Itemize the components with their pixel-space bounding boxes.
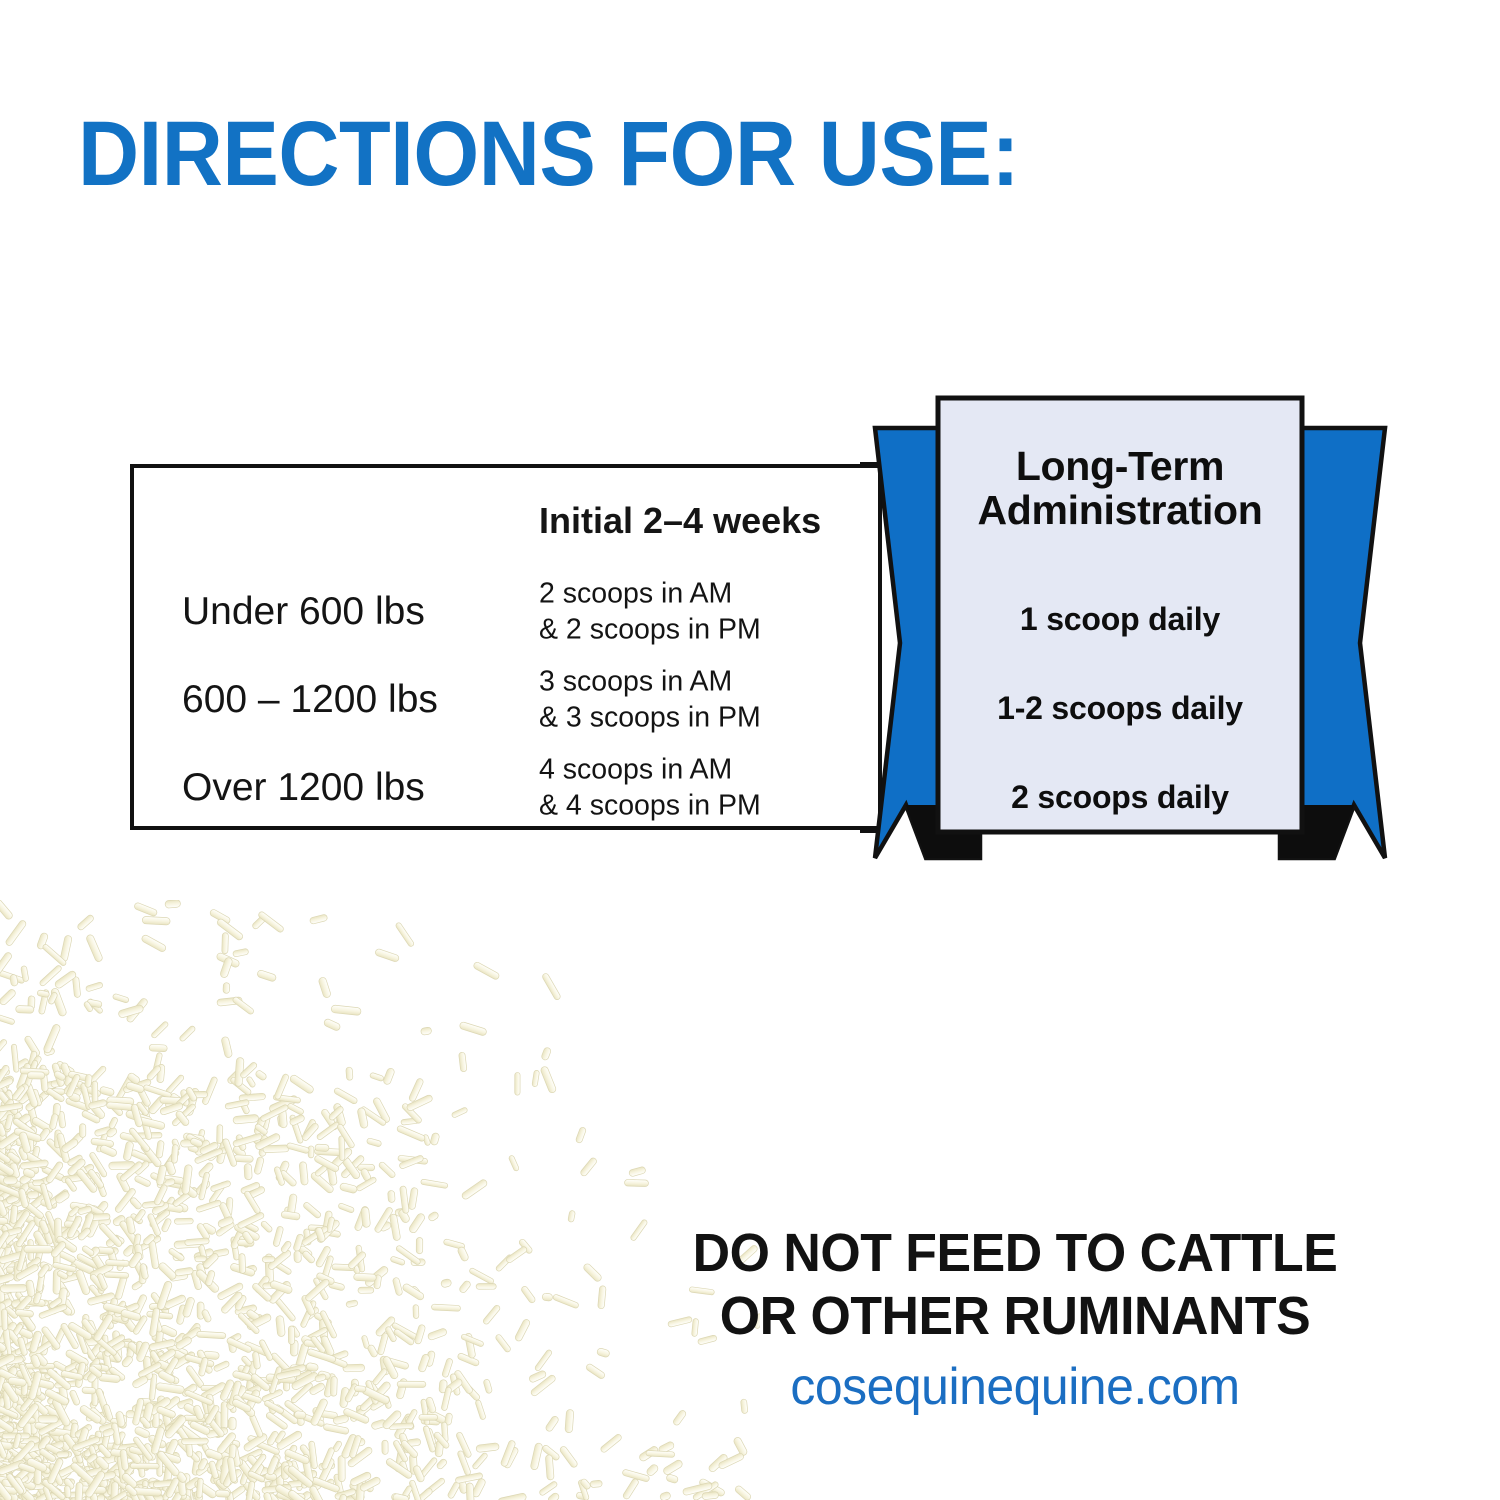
pellet — [662, 1459, 683, 1476]
pellet — [319, 1310, 337, 1339]
pellet — [338, 1203, 355, 1214]
pellet — [83, 1443, 100, 1458]
pellet — [99, 1086, 115, 1097]
pellet — [4, 1455, 24, 1471]
pellet — [64, 1221, 77, 1228]
pellet — [0, 1014, 15, 1025]
pellet — [500, 1440, 516, 1468]
pellet — [217, 1125, 223, 1144]
pellet — [391, 1492, 411, 1500]
pellet — [33, 1292, 43, 1305]
pellet — [0, 951, 13, 977]
pellet — [156, 1405, 177, 1419]
pellet — [111, 1480, 120, 1493]
pellet — [0, 1261, 15, 1267]
pellet — [273, 1261, 292, 1276]
pellet — [293, 1233, 305, 1251]
pellet — [0, 1419, 10, 1435]
pellet — [388, 1190, 396, 1202]
pellet — [106, 1102, 133, 1111]
pellet — [14, 1294, 33, 1314]
pellet — [124, 1446, 143, 1466]
pellet — [18, 1188, 29, 1208]
pellet — [89, 1273, 107, 1292]
pellet — [0, 1463, 14, 1476]
pellet — [194, 1148, 223, 1165]
pellet — [150, 1172, 167, 1185]
pellet — [147, 1485, 159, 1499]
pellet — [195, 1268, 220, 1294]
pellet — [0, 1483, 10, 1495]
pellet — [0, 1381, 7, 1393]
pellet — [205, 1270, 216, 1287]
pellet — [197, 1331, 226, 1339]
pellet — [37, 1434, 52, 1451]
pellet — [334, 1488, 356, 1500]
pellet — [300, 1334, 316, 1347]
pellet — [65, 1097, 90, 1112]
pellet — [173, 1253, 184, 1261]
pellet — [253, 1439, 280, 1455]
pellet — [0, 1227, 22, 1238]
pellet — [41, 1166, 65, 1182]
pellet — [226, 1069, 242, 1085]
pellet — [0, 1235, 10, 1261]
pellet — [235, 1448, 263, 1465]
pellet — [169, 1271, 188, 1281]
pellet — [77, 1227, 92, 1242]
pellet — [61, 1297, 76, 1316]
pellet — [0, 1078, 10, 1090]
pellet — [54, 1130, 61, 1148]
pellet — [185, 1238, 210, 1246]
pellet — [165, 900, 181, 908]
pellet — [253, 1116, 266, 1136]
pellet — [164, 1413, 186, 1434]
pellet — [86, 1453, 98, 1465]
pellet — [113, 1445, 135, 1464]
pellet — [0, 1397, 6, 1418]
pellet — [33, 1372, 51, 1382]
pellet — [217, 1450, 244, 1468]
pellet — [203, 1351, 219, 1360]
pellet — [265, 1254, 274, 1284]
pellet — [503, 1446, 519, 1469]
pellet — [234, 1155, 254, 1163]
pellet — [85, 1213, 110, 1220]
pellet — [534, 1349, 553, 1372]
pellet — [103, 1302, 129, 1315]
pellet — [383, 1397, 392, 1409]
initial-dose-am: 4 scoops in AM — [539, 752, 761, 788]
pellet — [160, 1202, 184, 1213]
pellet — [107, 1097, 134, 1106]
pellet — [65, 1349, 90, 1368]
pellet — [0, 1302, 14, 1327]
pellet — [260, 1220, 273, 1233]
pellet — [0, 1230, 10, 1257]
pellet — [197, 1302, 204, 1319]
pellet — [4, 1227, 15, 1242]
pellet — [216, 1490, 230, 1497]
pellet — [81, 1245, 95, 1257]
pellet — [36, 1434, 54, 1458]
pellet — [354, 1438, 365, 1447]
pellet — [36, 1230, 54, 1242]
pellet — [2, 1383, 13, 1391]
pellet — [111, 1422, 121, 1445]
pellet — [141, 1480, 149, 1500]
pellet — [91, 1333, 117, 1356]
pellet — [102, 1428, 115, 1438]
pellet — [26, 1455, 45, 1471]
pellet — [310, 1481, 323, 1492]
pellet — [46, 1222, 61, 1250]
pellet — [70, 1442, 83, 1464]
pellet — [514, 1318, 531, 1342]
pellet — [565, 1409, 574, 1433]
pellet — [315, 1226, 326, 1242]
pellet — [143, 1442, 157, 1461]
pellet — [217, 1216, 234, 1229]
pellet — [74, 1163, 95, 1179]
pellet — [459, 1052, 467, 1072]
pellet — [270, 1352, 293, 1376]
pellet — [338, 1494, 348, 1500]
pellet — [518, 1238, 533, 1254]
pellet — [156, 1280, 173, 1310]
pellet — [88, 1445, 101, 1469]
pellet — [98, 1475, 108, 1489]
pellet — [498, 1493, 527, 1500]
website-url-link[interactable]: cosequinequine.com — [617, 1357, 1414, 1417]
pellet — [12, 1188, 20, 1203]
pellet — [66, 1157, 86, 1177]
pellet — [17, 1309, 37, 1333]
pellet — [164, 1478, 188, 1500]
pellet — [645, 1463, 659, 1477]
pellet — [313, 1312, 332, 1327]
pellet — [3, 1176, 17, 1184]
pellet — [473, 961, 501, 980]
pellet — [32, 1407, 40, 1423]
pellet — [125, 1216, 136, 1234]
pellet — [58, 1479, 75, 1486]
pellet — [264, 1472, 277, 1481]
pellet — [38, 1303, 67, 1319]
pellet — [142, 916, 170, 925]
pellet — [32, 1230, 49, 1251]
pellet — [246, 1490, 260, 1498]
pellet — [99, 1422, 116, 1433]
pellet — [391, 1322, 419, 1341]
pellet — [347, 1250, 367, 1269]
pellet — [67, 1321, 93, 1341]
pellet — [5, 1090, 15, 1120]
pellet — [156, 1382, 185, 1394]
pellet — [274, 1073, 290, 1100]
pellet — [341, 1433, 358, 1459]
pellet — [16, 1005, 34, 1013]
pellet — [0, 1261, 15, 1274]
pellet — [0, 1248, 8, 1276]
pellet — [40, 1334, 50, 1355]
pellet — [209, 908, 231, 925]
pellet — [66, 1215, 83, 1239]
pellet — [43, 1047, 55, 1056]
pellet — [0, 1284, 27, 1292]
pellet — [457, 1246, 470, 1262]
pellet — [41, 1488, 63, 1500]
pellet — [431, 1304, 460, 1311]
pellet — [96, 1351, 122, 1363]
pellet — [84, 1466, 104, 1478]
pellet — [280, 1240, 292, 1254]
pellet — [64, 1357, 88, 1373]
pellet — [263, 1145, 289, 1153]
pellet — [130, 1149, 154, 1164]
pellet — [5, 1366, 19, 1384]
pellet — [0, 1185, 13, 1204]
pellet — [177, 1493, 191, 1500]
pellet — [149, 1350, 168, 1375]
pellet — [622, 1478, 640, 1500]
pellet — [6, 1328, 23, 1347]
pellet — [69, 1461, 95, 1486]
pellet — [314, 1164, 328, 1177]
pellet — [275, 1160, 290, 1182]
pellet — [244, 1222, 259, 1233]
pellet — [322, 1255, 334, 1278]
pellet — [3, 1390, 12, 1410]
pellet — [158, 1452, 179, 1463]
pellet — [18, 1462, 37, 1474]
pellet — [436, 1458, 448, 1470]
pellet — [253, 1467, 269, 1477]
pellet — [1, 1225, 14, 1247]
pellet — [461, 1381, 481, 1401]
pellet — [658, 1441, 675, 1455]
pellet — [409, 1480, 424, 1500]
pellet — [15, 1113, 32, 1128]
pellet — [327, 1162, 338, 1186]
pellet — [45, 1211, 60, 1237]
pellet — [207, 1149, 221, 1162]
pellet — [100, 1414, 113, 1424]
pellet — [27, 1453, 45, 1479]
pellet — [109, 1495, 122, 1500]
pellet — [283, 1206, 297, 1220]
pellet — [38, 1465, 52, 1472]
pellet — [34, 1222, 45, 1245]
pellet — [50, 1240, 67, 1258]
pellet — [0, 1438, 7, 1456]
pellet — [8, 1357, 34, 1373]
pellet — [244, 1389, 261, 1412]
pellet — [279, 1364, 307, 1377]
pellet — [108, 1116, 118, 1129]
pellet — [150, 1426, 165, 1455]
pellet — [89, 1262, 114, 1279]
pellet — [3, 1483, 16, 1500]
pellet — [458, 1280, 471, 1294]
pellet — [195, 1462, 212, 1477]
pellet — [22, 1300, 49, 1306]
pellet — [425, 1396, 437, 1413]
ribbon-shape-graphic — [860, 385, 1400, 875]
pellet — [414, 1324, 426, 1345]
pellet — [0, 1075, 15, 1086]
pellet — [54, 1380, 79, 1388]
pellet — [249, 1414, 264, 1438]
pellet — [264, 1478, 274, 1500]
pellet — [0, 1139, 17, 1150]
pellet — [417, 1353, 430, 1372]
pellet — [254, 1069, 267, 1081]
pellet — [152, 1438, 166, 1448]
pellet — [313, 1277, 329, 1301]
pellet — [0, 1196, 4, 1223]
pellet — [234, 1304, 257, 1315]
pellet — [0, 1228, 8, 1249]
pellet — [116, 1470, 143, 1496]
pellet — [568, 1210, 576, 1222]
pellet — [320, 1352, 348, 1368]
pellet — [86, 1320, 97, 1336]
pellet — [60, 1322, 80, 1350]
pellet — [0, 1486, 7, 1496]
pellet — [2, 1433, 30, 1439]
pellet — [0, 1447, 14, 1468]
pellet — [139, 1235, 162, 1251]
pellet — [0, 1175, 22, 1188]
pellet — [10, 974, 19, 986]
pellet — [397, 1208, 411, 1224]
pellet — [0, 1195, 14, 1204]
pellet — [98, 1222, 123, 1248]
pellet — [50, 1486, 61, 1498]
pellet — [246, 1313, 272, 1331]
pellet — [38, 1364, 52, 1380]
pellet — [180, 1140, 196, 1148]
pellet — [184, 1354, 214, 1368]
pellet — [0, 1477, 14, 1495]
pellet — [233, 1223, 260, 1242]
pellet — [290, 1382, 313, 1404]
pellet — [162, 1175, 184, 1185]
pellet — [257, 911, 284, 934]
pellet — [29, 1377, 54, 1390]
pellet — [91, 1138, 114, 1148]
pellet — [90, 1364, 101, 1370]
pellet — [476, 1443, 499, 1453]
pellet — [34, 1456, 41, 1484]
pellet — [216, 1139, 229, 1165]
pellet — [149, 1374, 157, 1401]
pellet — [101, 1314, 115, 1331]
pellet — [179, 1473, 190, 1500]
pellet — [25, 1280, 35, 1298]
pellet — [44, 1370, 58, 1379]
pellet — [0, 1460, 12, 1469]
pellet — [83, 1001, 93, 1013]
pellet — [183, 1402, 204, 1418]
pellet — [70, 1202, 99, 1214]
pellet — [13, 1463, 42, 1473]
pellet — [14, 1321, 25, 1332]
pellet — [287, 1489, 310, 1500]
pellet — [240, 1181, 260, 1194]
pellet — [475, 1399, 486, 1420]
pellet — [1, 1486, 11, 1500]
pellet — [4, 1194, 15, 1210]
pellet — [13, 1058, 29, 1071]
dosing-table-column-header-initial: Initial 2–4 weeks — [539, 500, 879, 542]
pellet — [212, 1475, 232, 1497]
pellet — [0, 1228, 19, 1248]
pellet — [433, 1431, 450, 1449]
pellet — [406, 1094, 433, 1112]
pellet — [138, 1402, 159, 1410]
pellet — [159, 1178, 183, 1189]
pellet — [193, 1490, 204, 1500]
pellet — [351, 1263, 361, 1275]
pellet — [18, 1138, 37, 1153]
warning-line-2: OR OTHER RUMINANTS — [617, 1285, 1414, 1348]
pellet — [0, 1334, 17, 1349]
pellet — [143, 1455, 149, 1471]
pellet — [0, 1152, 19, 1168]
pellet — [0, 1233, 13, 1248]
pellet — [36, 932, 48, 950]
pellet — [105, 1234, 120, 1248]
pellet — [150, 1291, 170, 1315]
pellet — [15, 1309, 34, 1318]
pellet — [171, 1138, 180, 1151]
pellet — [157, 1351, 174, 1377]
pellet — [181, 1164, 192, 1194]
pellet — [50, 987, 67, 1017]
pellet — [268, 1095, 298, 1114]
pellet — [308, 1146, 314, 1158]
pellet — [0, 1275, 10, 1283]
pellet — [176, 1438, 200, 1463]
pellet — [323, 1423, 349, 1434]
pellet — [92, 1081, 98, 1107]
table-row: Over 1200 lbs 4 scoops in AM & 4 scoops … — [134, 746, 878, 830]
pellet — [14, 1261, 22, 1281]
pellet — [323, 1018, 341, 1032]
pellet — [81, 1110, 101, 1124]
pellet — [47, 1189, 69, 1207]
pellet — [541, 1047, 552, 1061]
pellet — [148, 1491, 168, 1500]
pellet — [103, 1340, 126, 1358]
pellet — [356, 1405, 366, 1421]
pellet — [0, 1490, 25, 1500]
pellet — [175, 1336, 193, 1351]
pellet — [69, 1389, 81, 1406]
pellet — [530, 1443, 543, 1471]
pellet — [242, 1481, 261, 1500]
pellet — [2, 1155, 21, 1171]
pellet — [21, 1314, 36, 1333]
pellet — [21, 1459, 39, 1469]
pellet — [107, 1468, 121, 1495]
pellet — [56, 1280, 71, 1299]
pellet — [46, 1477, 52, 1493]
pellet — [98, 1471, 116, 1482]
